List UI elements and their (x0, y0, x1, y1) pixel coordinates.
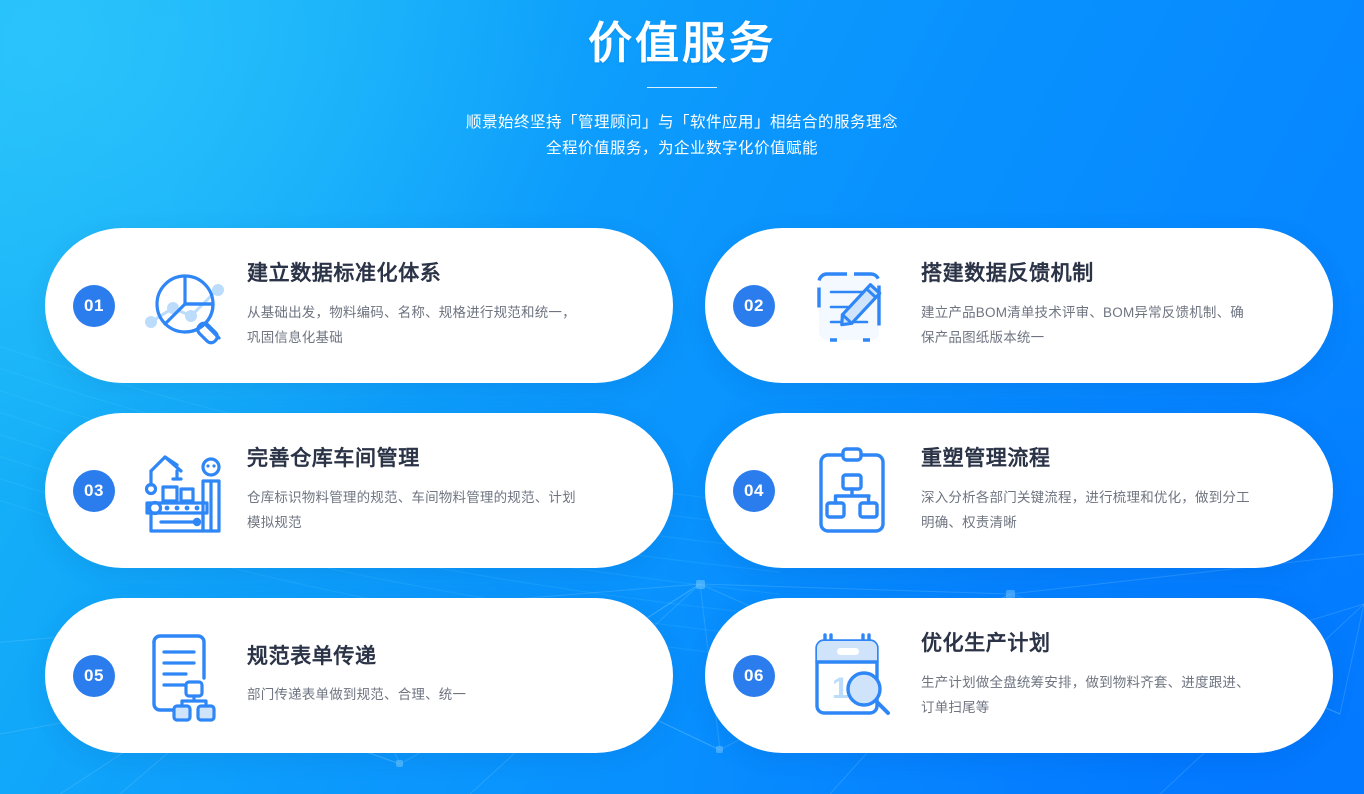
service-card-03[interactable]: 03 (45, 413, 673, 568)
card-number-badge: 06 (733, 655, 775, 697)
card-title: 完善仓库车间管理 (247, 446, 639, 471)
card-text-block: 重塑管理流程 深入分析各部门关键流程，进行梳理和优化，做到分工明确、权责清晰 (921, 446, 1333, 534)
card-number-badge: 02 (733, 285, 775, 327)
service-card-04[interactable]: 04 重塑管理流程 深入分析各部门关键流程，进行梳理和优化，做到分工明确、权责清… (705, 413, 1333, 568)
card-text-block: 规范表单传递 部门传递表单做到规范、合理、统一 (247, 644, 673, 707)
card-title: 搭建数据反馈机制 (921, 261, 1299, 286)
subtitle-line-2: 全程价值服务，为企业数字化价值赋能 (0, 136, 1364, 162)
service-card-grid: 01 (45, 228, 1333, 753)
service-card-01[interactable]: 01 (45, 228, 673, 383)
form-flow-icon (137, 628, 233, 724)
card-title: 优化生产计划 (921, 631, 1299, 656)
card-title: 建立数据标准化体系 (247, 261, 639, 286)
card-description: 深入分析各部门关键流程，进行梳理和优化，做到分工明确、权责清晰 (921, 485, 1251, 535)
calendar-magnifier-icon: 11 (805, 628, 901, 724)
card-number-badge: 03 (73, 470, 115, 512)
card-description: 部门传递表单做到规范、合理、统一 (247, 682, 577, 707)
card-title: 规范表单传递 (247, 644, 639, 669)
card-title: 重塑管理流程 (921, 446, 1299, 471)
card-text-block: 优化生产计划 生产计划做全盘统筹安排，做到物料齐套、进度跟进、订单扫尾等 (921, 631, 1333, 719)
service-card-02[interactable]: 02 搭建数据反馈机制 建立产品BOM清单技术评审、BOM异常反馈机制、确保产品… (705, 228, 1333, 383)
service-card-05[interactable]: 05 (45, 598, 673, 753)
card-number-badge: 05 (73, 655, 115, 697)
pie-chart-magnifier-icon (137, 258, 233, 354)
card-description: 建立产品BOM清单技术评审、BOM异常反馈机制、确保产品图纸版本统一 (921, 300, 1251, 350)
clipboard-orgchart-icon (805, 443, 901, 539)
card-text-block: 完善仓库车间管理 仓库标识物料管理的规范、车间物料管理的规范、计划模拟规范 (247, 446, 673, 534)
document-pencil-icon (805, 258, 901, 354)
page-subtitle: 顺景始终坚持「管理顾问」与「软件应用」相结合的服务理念 全程价值服务，为企业数字… (0, 110, 1364, 162)
card-number-badge: 01 (73, 285, 115, 327)
card-text-block: 建立数据标准化体系 从基础出发，物料编码、名称、规格进行规范和统一，巩固信息化基… (247, 261, 673, 349)
service-card-06[interactable]: 06 11 优化生产计划 生产计划做全盘统筹安排，做到物料齐套、进度跟进、订单扫… (705, 598, 1333, 753)
card-number-badge: 04 (733, 470, 775, 512)
card-description: 仓库标识物料管理的规范、车间物料管理的规范、计划模拟规范 (247, 485, 577, 535)
subtitle-line-1: 顺景始终坚持「管理顾问」与「软件应用」相结合的服务理念 (0, 110, 1364, 136)
factory-worker-conveyor-icon (137, 443, 233, 539)
title-divider (647, 87, 717, 88)
page-header: 价值服务 顺景始终坚持「管理顾问」与「软件应用」相结合的服务理念 全程价值服务，… (0, 0, 1364, 162)
card-text-block: 搭建数据反馈机制 建立产品BOM清单技术评审、BOM异常反馈机制、确保产品图纸版… (921, 261, 1333, 349)
card-description: 从基础出发，物料编码、名称、规格进行规范和统一，巩固信息化基础 (247, 300, 577, 350)
page-title: 价值服务 (0, 14, 1364, 73)
card-description: 生产计划做全盘统筹安排，做到物料齐套、进度跟进、订单扫尾等 (921, 670, 1251, 720)
